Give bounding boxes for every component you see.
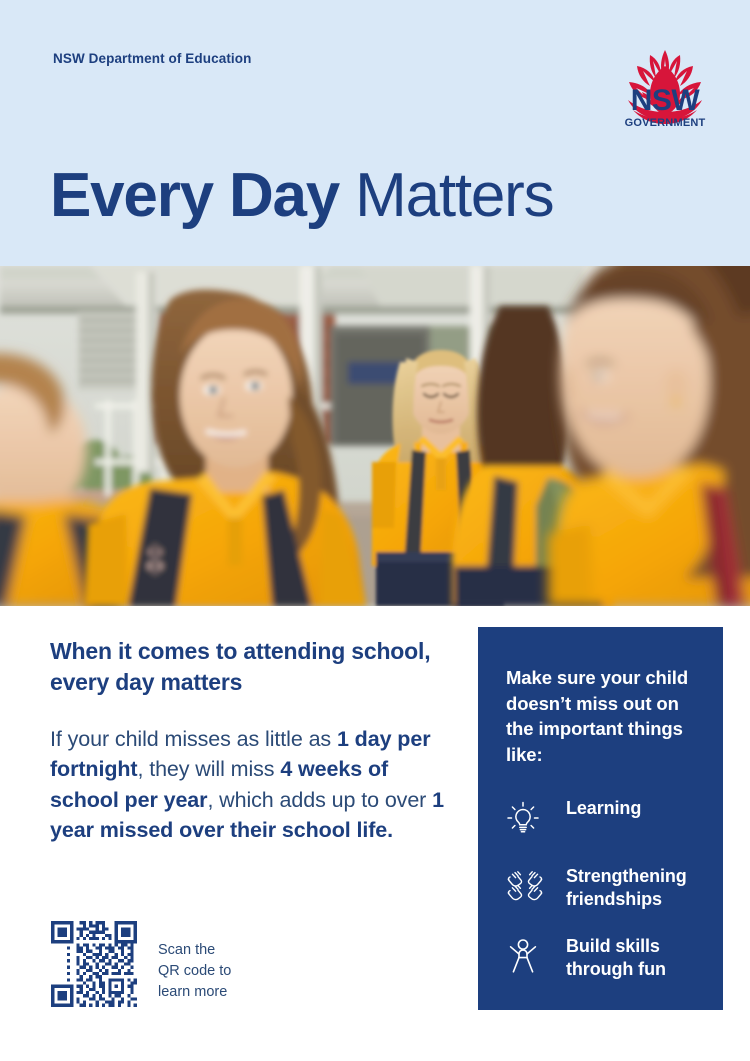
qr-caption-line-2: QR code to bbox=[158, 961, 231, 982]
qr-caption: Scan the QR code to learn more bbox=[158, 940, 231, 1003]
benefit-label: Build skills through fun bbox=[546, 935, 703, 980]
logo-sub-wordmark: GOVERNMENT bbox=[620, 116, 710, 130]
header-band: NSW Department of Education bbox=[0, 0, 750, 266]
list-item: Build skills through fun bbox=[506, 935, 703, 980]
body-text: , they will miss bbox=[137, 757, 280, 781]
page-title: Every Day Matters bbox=[50, 165, 553, 227]
list-item: Strengthening friendships bbox=[506, 865, 703, 910]
benefit-label: Learning bbox=[546, 797, 641, 820]
qr-code[interactable] bbox=[48, 918, 140, 1010]
benefit-label: Strengthening friendships bbox=[546, 865, 703, 910]
logo-wordmark: NSW bbox=[620, 86, 710, 116]
qr-caption-line-1: Scan the bbox=[158, 940, 231, 961]
body-text: If your child misses as little as bbox=[50, 727, 337, 751]
body-paragraph: If your child misses as little as 1 day … bbox=[50, 724, 450, 846]
person-arms-raised-icon bbox=[506, 936, 546, 978]
nsw-government-waratah-logo: NSW NSW GOVERNMENT bbox=[620, 44, 710, 136]
clapping-hands-icon bbox=[506, 866, 546, 908]
page-title-light: Matters bbox=[339, 161, 553, 230]
panel-heading: Make sure your child doesn’t miss out on… bbox=[506, 665, 703, 767]
benefits-panel: Make sure your child doesn’t miss out on… bbox=[478, 627, 723, 1010]
lead-heading: When it comes to attending school, every… bbox=[50, 636, 450, 698]
page-title-bold: Every Day bbox=[50, 161, 339, 230]
students-in-school-uniform-photo bbox=[0, 266, 750, 606]
benefit-list: Learning bbox=[506, 797, 703, 981]
qr-caption-line-3: learn more bbox=[158, 982, 231, 1003]
body-text: , which adds up to over bbox=[207, 788, 432, 812]
qr-block: Scan the QR code to learn more bbox=[48, 918, 231, 1010]
poster: NSW Department of Education bbox=[0, 0, 750, 1061]
lightbulb-icon bbox=[506, 798, 546, 840]
department-name: NSW Department of Education bbox=[53, 51, 251, 66]
main-content: When it comes to attending school, every… bbox=[50, 636, 450, 846]
list-item: Learning bbox=[506, 797, 703, 840]
